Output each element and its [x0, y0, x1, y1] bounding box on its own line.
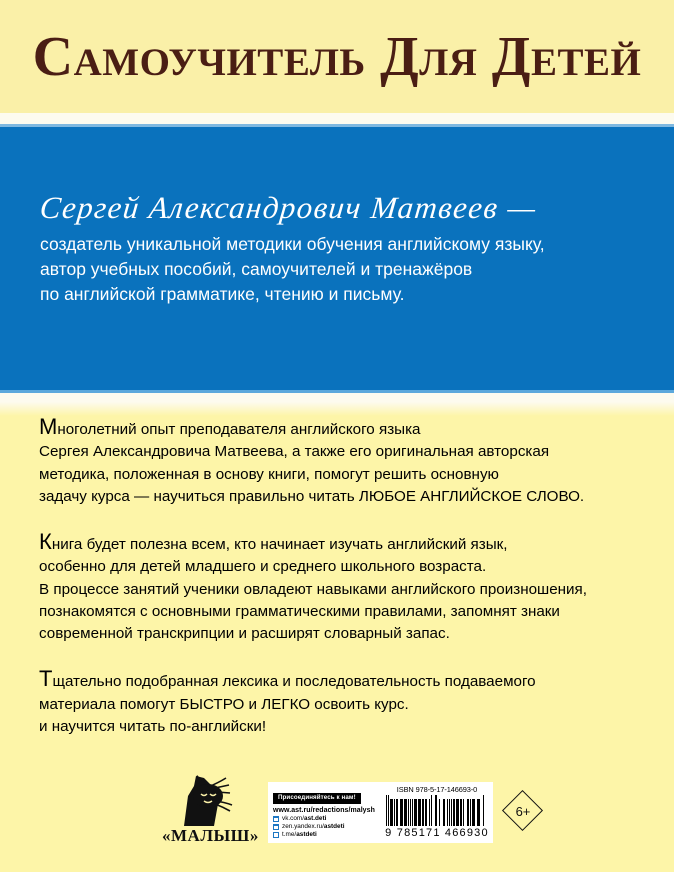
paragraph-line: познакомятся с основными грамматическими…	[39, 601, 647, 623]
fade-gradient-strip	[0, 402, 674, 416]
cream-separator-top	[0, 113, 674, 124]
paragraph: Тщательно подобранная лексика и последов…	[39, 668, 647, 738]
paragraph-line: Сергея Александровича Матвеева, а также …	[39, 441, 647, 463]
barcode-block: ISBN 978-5-17-146693-0 9 785171 466930	[383, 784, 491, 841]
header-band: Самоучитель Для Детей	[0, 0, 674, 113]
author-description-line: по английской грамматике, чтению и письм…	[40, 282, 640, 307]
vk-icon	[273, 816, 279, 822]
page-title: Самоучитель Для Детей	[25, 29, 650, 85]
paragraph-dropcap: К	[39, 529, 52, 554]
zen-icon	[273, 824, 279, 830]
footer: «МАЛЫШ» Присоединяйтесь к нам! www.ast.r…	[0, 770, 674, 856]
paragraph-line: особенно для детей младшего и среднего ш…	[39, 556, 647, 578]
paragraph-line: материала помогут БЫСТРО и ЛЕГКО освоить…	[39, 694, 647, 716]
paragraph-line: задачу курса — научиться правильно читат…	[39, 486, 647, 508]
join-us-banner: Присоединяйтесь к нам!	[273, 793, 361, 804]
paragraph-line: Книга будет полезна всем, кто начинает и…	[39, 531, 647, 556]
paragraph-dropcap: М	[39, 414, 57, 439]
barcode-digits: 9 785171 466930	[383, 827, 491, 839]
author-band-content: Сергей Александрович Матвеев — создатель…	[40, 191, 640, 307]
paragraph-dropcap: Т	[39, 666, 52, 691]
paragraph: Многолетний опыт преподавателя английско…	[39, 416, 647, 508]
paragraph-line: и научится читать по-английски!	[39, 716, 647, 738]
body-text: Многолетний опыт преподавателя английско…	[39, 416, 647, 738]
author-band: Сергей Александрович Матвеев — создатель…	[0, 127, 674, 390]
paragraph: Книга будет полезна всем, кто начинает и…	[39, 531, 647, 645]
paragraph-line: В процессе занятий ученики овладеют навы…	[39, 579, 647, 601]
social-link-text: vk.com/ast.deti	[282, 816, 326, 822]
social-link-text: zen.yandex.ru/astdeti	[282, 824, 345, 830]
social-link-text: t.me/astdeti	[282, 832, 317, 838]
author-description-line: создатель уникальной методики обучения а…	[40, 232, 640, 257]
paragraph-line-text: щательно подобранная лексика и последова…	[52, 673, 535, 690]
paragraph-line-text: нига будет полезна всем, кто начинает из…	[52, 536, 508, 553]
isbn-text: ISBN 978-5-17-146693-0	[383, 785, 491, 794]
paragraph-line-text: ноголетний опыт преподавателя английског…	[57, 421, 420, 438]
cream-separator-bottom	[0, 393, 674, 402]
age-rating-label: 6+	[504, 792, 542, 830]
paragraph-line: методика, положенная в основу книги, пом…	[39, 464, 647, 486]
cat-face-icon	[174, 774, 236, 830]
barcode-bars	[386, 795, 488, 826]
paragraph-line: современной транскрипции и расширят слов…	[39, 623, 647, 645]
author-name: Сергей Александрович Матвеев —	[38, 191, 642, 225]
publisher-name: «МАЛЫШ»	[162, 826, 252, 846]
publisher-logo: «МАЛЫШ»	[162, 774, 252, 852]
age-rating-badge: 6+	[504, 792, 542, 830]
paragraph-line: Тщательно подобранная лексика и последов…	[39, 668, 647, 693]
author-description-line: автор учебных пособий, самоучителей и тр…	[40, 257, 640, 282]
telegram-icon	[273, 832, 279, 838]
paragraph-line: Многолетний опыт преподавателя английско…	[39, 416, 647, 441]
